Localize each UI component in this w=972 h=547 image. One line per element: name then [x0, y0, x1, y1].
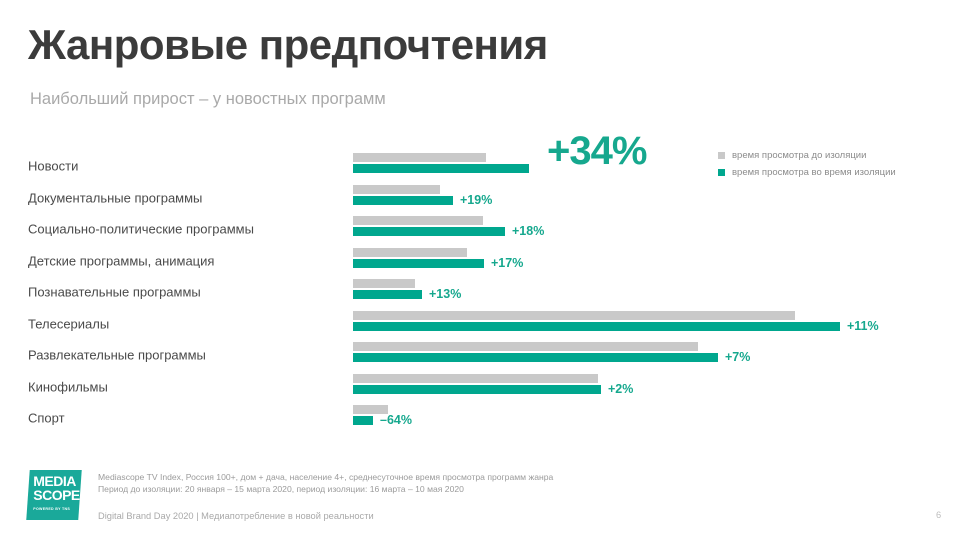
bar-during-isolation: [353, 290, 422, 299]
chart-category-row: Кинофильмы+2%: [0, 371, 972, 403]
page-number: 6: [936, 510, 941, 520]
logo-line-2: SCOPE: [33, 488, 80, 502]
bar-before-isolation: [353, 216, 483, 225]
bar-change-label: +34%: [547, 131, 646, 171]
bar-before-isolation: [353, 153, 486, 162]
mediascope-logo: MEDIA SCOPE POWERED BY TNS: [26, 470, 81, 520]
slide: Жанровые предпочтения Наибольший прирост…: [0, 0, 972, 547]
bar-before-isolation: [353, 185, 440, 194]
source-line-1: Mediascope TV Index, Россия 100+, дом + …: [98, 472, 553, 484]
bar-change-label: +18%: [512, 226, 544, 237]
genre-preferences-bar-chart: Новости+34%Документальные программы+19%С…: [0, 0, 972, 440]
chart-category-row: Развлекательные программы+7%: [0, 339, 972, 371]
bar-change-label: +13%: [429, 289, 461, 300]
category-label: Спорт: [28, 411, 65, 426]
category-label: Социально-политические программы: [28, 222, 254, 237]
category-label: Развлекательные программы: [28, 348, 206, 363]
category-label: Детские программы, анимация: [28, 253, 214, 268]
category-label: Новости: [28, 159, 78, 174]
bar-during-isolation: [353, 416, 373, 425]
bar-change-label: –64%: [380, 415, 412, 426]
chart-category-row: Детские программы, анимация+17%: [0, 245, 972, 277]
chart-category-row: Новости+34%: [0, 150, 972, 182]
bar-during-isolation: [353, 353, 718, 362]
bar-change-label: +19%: [460, 195, 492, 206]
bar-during-isolation: [353, 385, 601, 394]
bar-during-isolation: [353, 322, 840, 331]
chart-category-row: Документальные программы+19%: [0, 182, 972, 214]
footer-event-note: Digital Brand Day 2020 | Медиапотреблени…: [98, 511, 374, 521]
chart-category-row: Спорт–64%: [0, 402, 972, 434]
bar-during-isolation: [353, 259, 484, 268]
logo-line-3: POWERED BY TNS: [33, 502, 80, 513]
category-label: Документальные программы: [28, 190, 202, 205]
source-note: Mediascope TV Index, Россия 100+, дом + …: [98, 472, 553, 495]
bar-change-label: +17%: [491, 258, 523, 269]
bar-change-label: +11%: [847, 321, 879, 332]
bar-during-isolation: [353, 227, 505, 236]
bar-during-isolation: [353, 164, 529, 173]
category-label: Телесериалы: [28, 316, 109, 331]
chart-category-row: Социально-политические программы+18%: [0, 213, 972, 245]
source-line-2: Период до изоляции: 20 января – 15 марта…: [98, 484, 553, 496]
bar-change-label: +2%: [608, 384, 633, 395]
chart-category-row: Телесериалы+11%: [0, 308, 972, 340]
bar-before-isolation: [353, 342, 698, 351]
bar-change-label: +7%: [725, 352, 750, 363]
bar-before-isolation: [353, 279, 415, 288]
category-label: Кинофильмы: [28, 379, 108, 394]
category-label: Познавательные программы: [28, 285, 201, 300]
chart-category-row: Познавательные программы+13%: [0, 276, 972, 308]
bar-before-isolation: [353, 311, 795, 320]
bar-during-isolation: [353, 196, 453, 205]
bar-before-isolation: [353, 248, 467, 257]
bar-before-isolation: [353, 374, 598, 383]
